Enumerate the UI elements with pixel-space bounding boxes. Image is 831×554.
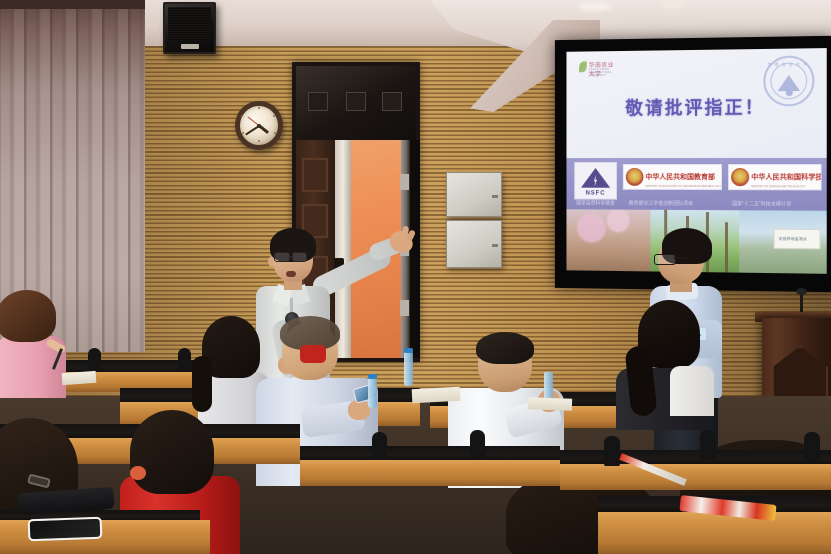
photo-field-site: 实验样地监测点 [739,210,827,274]
seat-bracket [604,436,620,466]
seat-bracket [804,432,820,462]
curtain-rod [0,0,145,9]
podium-microphone-head [796,288,807,295]
ceiling-light [660,0,686,8]
speaker-grille [168,7,211,41]
notebook-paper [528,397,572,411]
smartphone[interactable] [28,517,103,542]
national-emblem-icon [626,168,644,186]
seat-bracket [700,430,716,460]
bottle-cap [404,348,413,353]
electrical-panel[interactable] [446,172,502,217]
ministry-of-science-technology-logo-icon: 中华人民共和国科学技术部 MINISTRY OF SCIENCE AND TEC… [728,164,822,190]
photo-callout-text: 实验样地监测点 [779,237,808,242]
lecture-hall-photo: 华南农业大学 SOUTH CHINA AGRICULTURAL UNIVERSI… [0,0,831,554]
water-bottle[interactable] [368,378,377,408]
ministry-of-education-logo-icon: 中华人民共和国教育部 MINISTRY OF EDUCATION OF THE … [623,164,722,190]
eyeglasses-icon [274,252,290,262]
sponsor-band: NSFC 中华人民共和国教育部 MINISTRY OF EDUCATION OF… [566,158,826,211]
hair [476,332,534,364]
door-gap-shadow [410,140,420,358]
most-label: 中华人民共和国科学技术部 [751,174,821,181]
notebook-paper [412,387,461,403]
ceiling-light [578,2,612,11]
nsfc-logo-icon: NSFC [574,162,617,200]
seat-bracket [372,432,387,460]
student-ponytail-right [616,300,712,430]
nsfc-label: NSFC [575,191,616,197]
university-logo-icon: 华南农业大学 SOUTH CHINA AGRICULTURAL UNIVERSI… [579,60,618,75]
eyeglasses-icon [654,254,676,265]
mouth [286,271,296,277]
moe-label: 中华人民共和国教育部 [645,173,715,180]
eyeglasses-bridge [289,256,293,258]
band-caption: 国家自然科学基金 [576,199,615,206]
desk-row-front [560,464,831,490]
water-bottle[interactable] [404,352,413,386]
seal-text: 华南农业大学 [765,61,812,68]
hair [130,410,214,494]
notebook-paper [62,371,97,385]
white-blouse [670,366,714,416]
seat-bracket [88,348,101,370]
bottle-cap [368,374,377,379]
seat-bracket [470,430,485,458]
lectern-panel [772,346,828,400]
national-emblem-icon [731,168,749,186]
hair-tie [130,466,146,480]
university-logo-subtext: SOUTH CHINA AGRICULTURAL UNIVERSITY [589,68,618,77]
door-transom [296,66,416,140]
band-caption: 国家“十二五”科技支撑计划 [732,200,791,207]
desk-row-front [598,512,831,554]
electrical-panel[interactable] [446,220,502,268]
moe-sublabel: MINISTRY OF EDUCATION OF THE PEOPLE'S RE… [645,185,722,188]
most-sublabel: MINISTRY OF SCIENCE AND TECHNOLOGY [751,185,806,188]
desk-row-front [300,460,560,486]
door-hinge [400,174,409,190]
speaker-badge [181,44,199,49]
door-hinge [400,300,409,316]
seat-bracket [178,348,191,370]
clock-center-pin [257,124,261,128]
hair [0,290,56,342]
slide-title: 敬请批评指正！ [566,93,826,121]
photo-callout: 实验样地监测点 [774,229,821,250]
eyeglasses-temple [674,257,688,259]
red-bag [300,345,326,363]
eyeglasses-icon [292,252,307,262]
wall-clock-icon [235,101,283,150]
band-caption: 教育部长江学者创新团队项目 [629,200,693,207]
wall-speaker-icon [163,2,216,54]
